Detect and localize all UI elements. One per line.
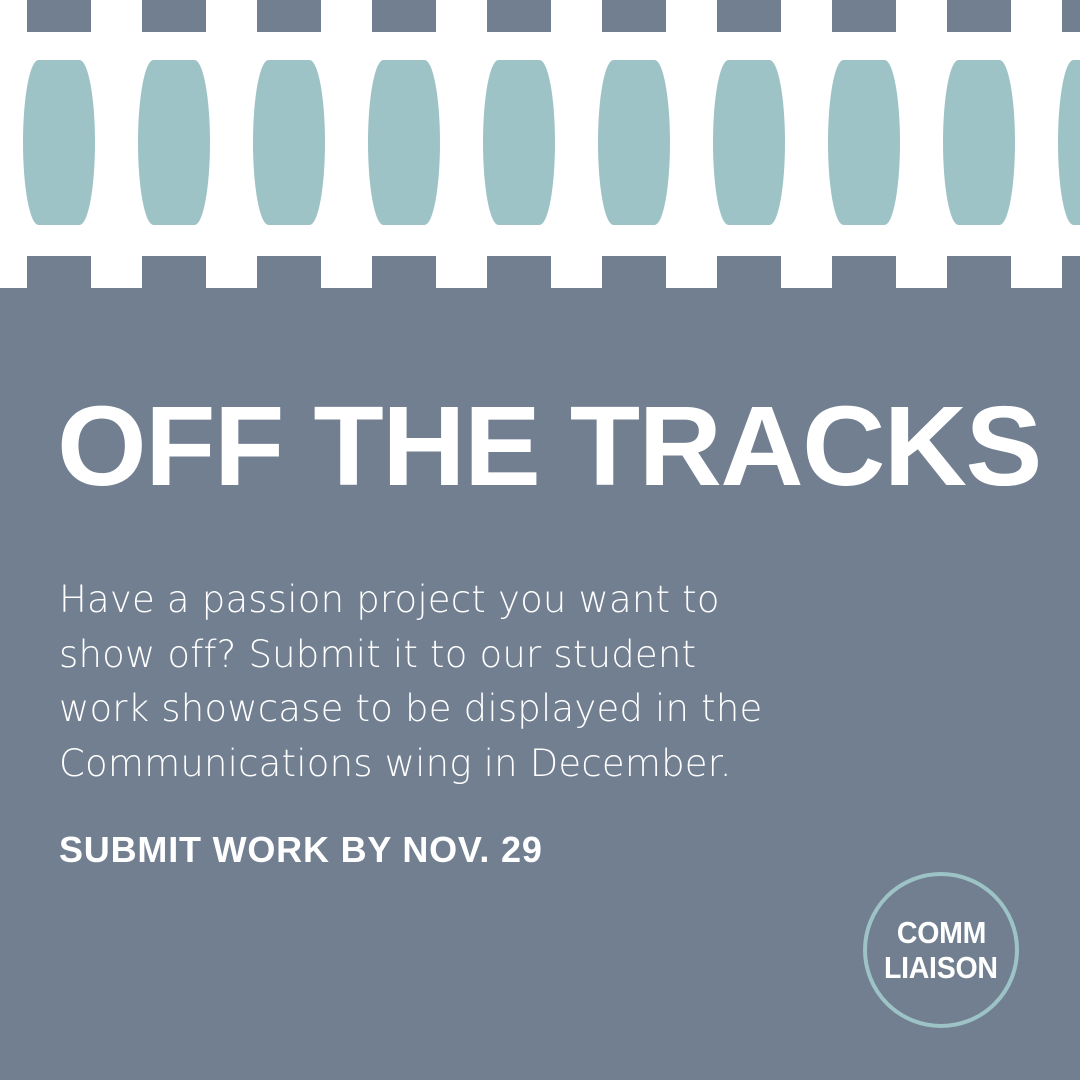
railroad-tie [717,0,781,32]
railroad-rail-block [828,60,900,225]
description-text: Have a passion project you want to show … [59,573,819,791]
poster-canvas: OFF THE TRACKS Have a passion project yo… [0,0,1080,1080]
comm-liaison-logo: COMM LIAISON [863,872,1019,1028]
railroad-tie [832,256,896,288]
logo-line-liaison: LIAISON [884,950,998,985]
railroad-tie [832,0,896,32]
railroad-tie-row-top [0,0,1080,32]
description-line: show off? Submit it to our student [59,628,819,683]
railroad-rail-block [253,60,325,225]
railroad-tie [602,256,666,288]
railroad-rail-block [1058,60,1080,225]
railroad-rail-block [368,60,440,225]
railroad-tie [602,0,666,32]
railroad-tie [717,256,781,288]
description-line: work showcase to be displayed in the [59,682,819,737]
railroad-rail-block [598,60,670,225]
railroad-tie [27,0,91,32]
railroad-tie [947,256,1011,288]
railroad-rail-block [483,60,555,225]
railroad-tie [372,0,436,32]
railroad-tie [372,256,436,288]
railroad-rail-block [23,60,95,225]
description-line: Have a passion project you want to [59,573,819,628]
deadline-callout: SUBMIT WORK BY NOV. 29 [59,828,543,872]
railroad-rail-block-row [0,60,1080,225]
railroad-tie [1062,0,1080,32]
railroad-track-band [0,0,1080,288]
logo-line-comm: COMM [896,915,985,950]
page-title: OFF THE TRACKS [57,390,1041,503]
railroad-rail-block [943,60,1015,225]
railroad-tie [257,0,321,32]
description-line: Communications wing in December. [59,737,819,792]
railroad-tie [947,0,1011,32]
railroad-rail-block [138,60,210,225]
railroad-tie [142,256,206,288]
railroad-tie [487,256,551,288]
railroad-tie [27,256,91,288]
railroad-tie [142,0,206,32]
railroad-rail-block [713,60,785,225]
railroad-tie [487,0,551,32]
railroad-tie-row-bottom [0,256,1080,288]
railroad-tie [1062,256,1080,288]
railroad-tie [257,256,321,288]
